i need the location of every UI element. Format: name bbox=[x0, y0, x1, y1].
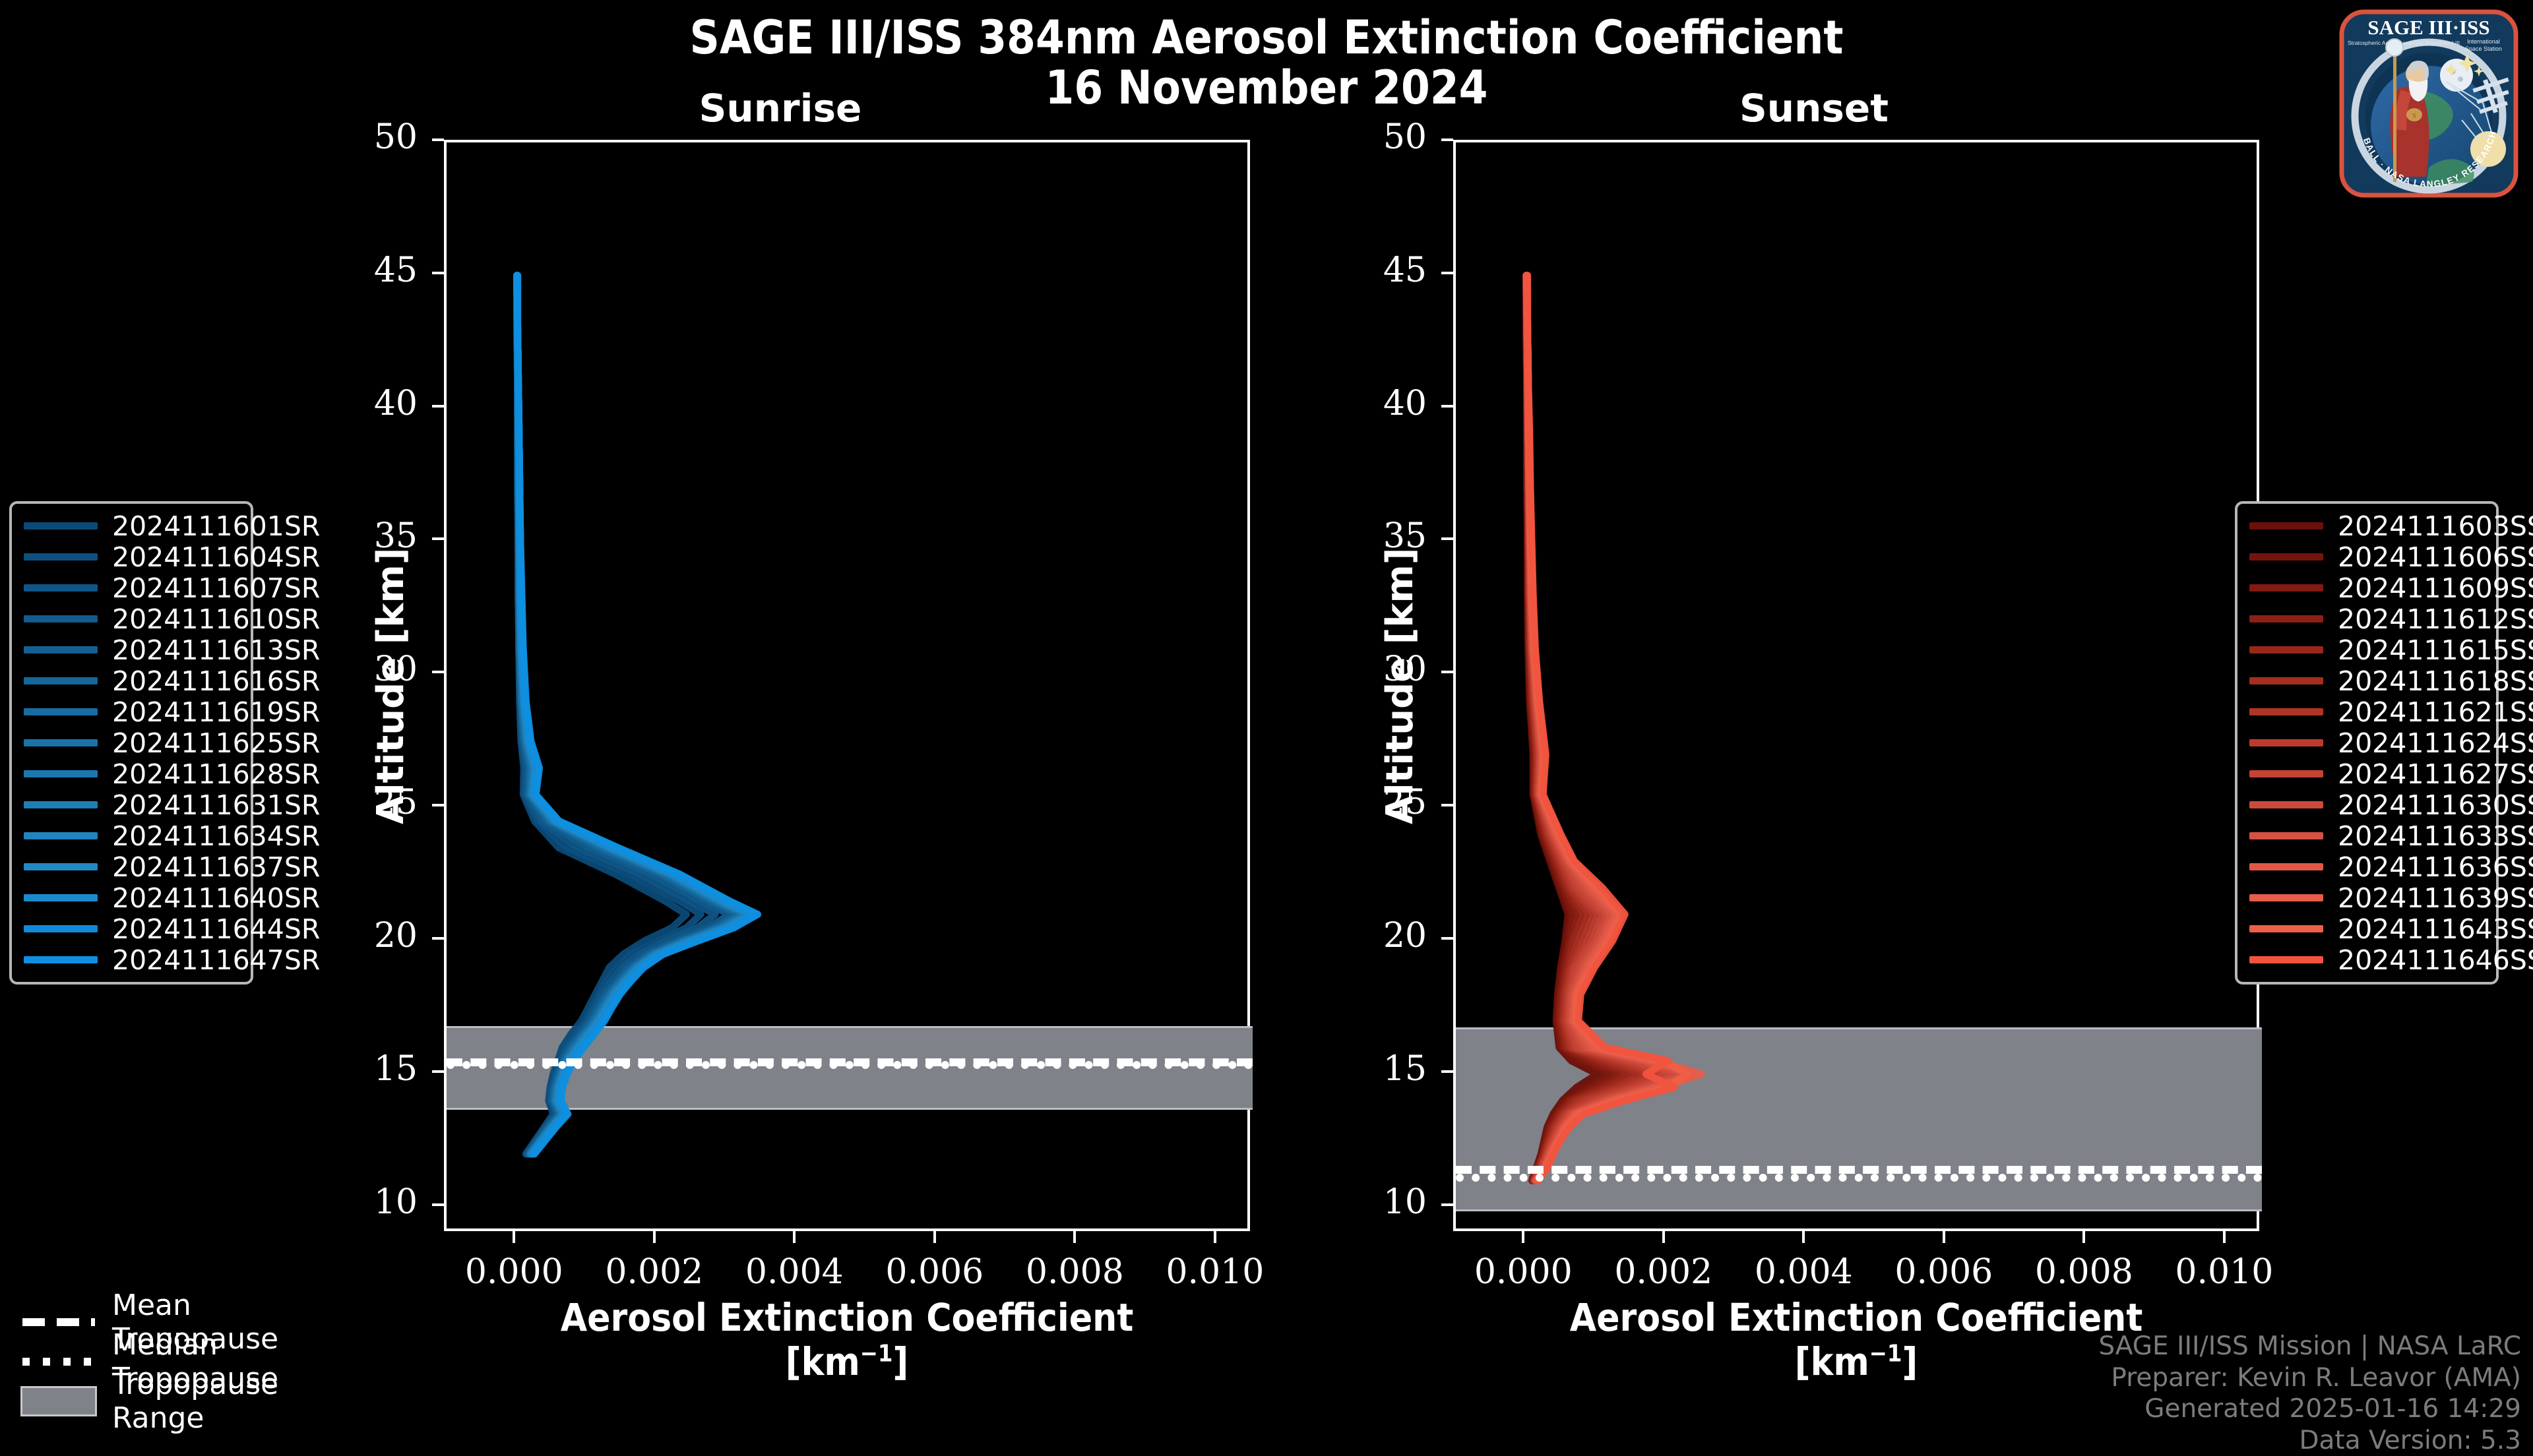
y-axis-tick bbox=[1441, 1203, 1453, 1206]
legend-item-label: 2024111604SR bbox=[112, 541, 320, 573]
y-axis-tick bbox=[432, 1070, 444, 1073]
legend-item[interactable]: 2024111613SR bbox=[24, 634, 239, 665]
legend-item-label: 2024111640SR bbox=[112, 882, 320, 914]
y-axis-tick-label: 45 bbox=[1334, 251, 1427, 290]
y-axis-tick bbox=[432, 937, 444, 940]
legend-item[interactable]: 2024111606SS bbox=[2249, 541, 2484, 572]
legend-color-swatch bbox=[24, 956, 98, 963]
credits-mission: SAGE III/ISS Mission | NASA LaRC bbox=[2098, 1331, 2521, 1362]
legend-item-label: 2024111631SR bbox=[112, 789, 320, 821]
profile-line bbox=[517, 276, 753, 1154]
sage-mission-patch-logo: S SAGE III·ISS Stratospheric Aerosol and… bbox=[2330, 3, 2528, 200]
median-tropopause-line bbox=[1456, 1174, 2262, 1182]
legend-item-label: 2024111628SR bbox=[112, 758, 320, 790]
mean-tropopause-line bbox=[1456, 1166, 2262, 1174]
profile-line bbox=[517, 276, 741, 1154]
legend-color-swatch bbox=[2249, 863, 2323, 870]
legend-color-swatch bbox=[24, 553, 98, 561]
legend-item-label: 2024111639SS bbox=[2338, 882, 2533, 914]
legend-item-label: 2024111619SR bbox=[112, 696, 320, 728]
legend-color-swatch bbox=[24, 739, 98, 746]
legend-color-swatch bbox=[2249, 894, 2323, 901]
x-axis-tick-label: 0.000 bbox=[441, 1252, 586, 1292]
mean-tropopause-swatch bbox=[20, 1317, 98, 1327]
legend-color-swatch bbox=[2249, 801, 2323, 808]
y-axis-tick bbox=[432, 138, 444, 141]
y-axis-tick bbox=[1441, 804, 1453, 806]
credits-preparer: Preparer: Kevin R. Leavor (AMA) bbox=[2098, 1362, 2521, 1394]
y-axis-tick bbox=[432, 405, 444, 408]
legend-color-swatch bbox=[24, 770, 98, 777]
legend-item[interactable]: 2024111628SR bbox=[24, 758, 239, 789]
y-axis-tick-label: 10 bbox=[1334, 1182, 1427, 1222]
legend-item-label: 2024111644SR bbox=[112, 913, 320, 945]
right-panel-label: Sunset bbox=[1715, 86, 1913, 131]
left-x-axis-units: [km−1] bbox=[786, 1339, 908, 1384]
legend-item[interactable]: 2024111644SR bbox=[24, 913, 239, 944]
legend-color-swatch bbox=[2249, 646, 2323, 653]
legend-item-label: 2024111627SS bbox=[2338, 758, 2533, 790]
svg-text:S: S bbox=[2412, 112, 2416, 120]
legend-item[interactable]: 2024111609SS bbox=[2249, 572, 2484, 603]
profile-line bbox=[517, 276, 745, 1154]
legend-item[interactable]: 2024111643SS bbox=[2249, 913, 2484, 944]
legend-item[interactable]: 2024111646SS bbox=[2249, 944, 2484, 975]
profile-line bbox=[518, 276, 756, 1154]
x-axis-tick-label: 0.002 bbox=[1591, 1252, 1736, 1292]
legend-item[interactable]: 2024111615SS bbox=[2249, 634, 2484, 665]
profile-line bbox=[1527, 276, 1701, 1181]
legend-item-label: 2024111618SS bbox=[2338, 665, 2533, 697]
y-axis-tick-label: 25 bbox=[325, 783, 418, 822]
tropopause-legend: Mean Tropopause Median Tropopause Tropop… bbox=[20, 1302, 363, 1421]
y-axis-tick bbox=[1441, 1070, 1453, 1073]
legend-item-label: 2024111607SR bbox=[112, 572, 320, 604]
x-axis-tick-label: 0.008 bbox=[1002, 1252, 1147, 1292]
x-axis-tick-label: 0.006 bbox=[862, 1252, 1007, 1292]
legend-item-label: 2024111610SR bbox=[112, 603, 320, 635]
legend-color-swatch bbox=[2249, 925, 2323, 932]
legend-item-label: 2024111625SR bbox=[112, 727, 320, 759]
legend-item[interactable]: 2024111604SR bbox=[24, 541, 239, 572]
y-axis-tick-label: 35 bbox=[1334, 516, 1427, 556]
x-axis-tick-label: 0.006 bbox=[1871, 1252, 2017, 1292]
x-axis-tick-label: 0.010 bbox=[2152, 1252, 2297, 1292]
legend-color-swatch bbox=[2249, 770, 2323, 777]
x-axis-tick bbox=[1073, 1231, 1076, 1243]
legend-item-label: 2024111647SR bbox=[112, 944, 320, 976]
x-axis-tick-label: 0.008 bbox=[2011, 1252, 2156, 1292]
legend-color-swatch bbox=[2249, 553, 2323, 561]
profile-line bbox=[1527, 276, 1695, 1181]
sunset-series-legend[interactable]: 2024111603SS2024111606SS2024111609SS2024… bbox=[2235, 501, 2499, 985]
profile-line bbox=[517, 276, 747, 1154]
sunrise-series-legend[interactable]: 2024111601SR2024111604SR2024111607SR2024… bbox=[9, 501, 253, 985]
right-x-axis-label-text: Aerosol Extinction Coefficient bbox=[1570, 1295, 2143, 1340]
x-axis-tick-label: 0.002 bbox=[582, 1252, 727, 1292]
title-line-2: 16 November 2024 bbox=[0, 63, 2533, 113]
y-axis-tick bbox=[432, 537, 444, 540]
legend-item[interactable]: 2024111630SS bbox=[2249, 789, 2484, 820]
legend-color-swatch bbox=[24, 615, 98, 622]
legend-item[interactable]: 2024111631SR bbox=[24, 789, 239, 820]
x-axis-tick bbox=[793, 1231, 796, 1243]
x-axis-tick bbox=[1662, 1231, 1665, 1243]
profile-line bbox=[517, 276, 751, 1154]
legend-item[interactable]: 2024111624SS bbox=[2249, 727, 2484, 758]
legend-item[interactable]: 2024111612SS bbox=[2249, 603, 2484, 634]
y-axis-tick bbox=[432, 804, 444, 806]
legend-color-swatch bbox=[2249, 677, 2323, 684]
legend-color-swatch bbox=[24, 646, 98, 653]
legend-item-label: 2024111624SS bbox=[2338, 727, 2533, 759]
y-axis-tick bbox=[1441, 937, 1453, 940]
credits-data-version: Data Version: 5.3 bbox=[2098, 1425, 2521, 1456]
right-x-axis-units: [km−1] bbox=[1795, 1339, 1918, 1384]
legend-color-swatch bbox=[24, 801, 98, 808]
left-x-axis-label: Aerosol Extinction Coefficient [km−1] bbox=[444, 1296, 1250, 1383]
title-line-1: SAGE III/ISS 384nm Aerosol Extinction Co… bbox=[690, 11, 1844, 65]
legend-color-swatch bbox=[24, 832, 98, 839]
legend-item-label: 2024111616SR bbox=[112, 665, 320, 697]
legend-color-swatch bbox=[24, 708, 98, 715]
y-axis-tick bbox=[432, 272, 444, 274]
legend-item-label: 2024111601SR bbox=[112, 510, 320, 542]
x-axis-tick-label: 0.000 bbox=[1451, 1252, 1596, 1292]
y-axis-tick-label: 40 bbox=[1334, 384, 1427, 423]
legend-item[interactable]: 2024111619SR bbox=[24, 696, 239, 727]
profile-line bbox=[517, 276, 749, 1154]
legend-item-label: 2024111636SS bbox=[2338, 851, 2533, 883]
y-axis-tick-label: 40 bbox=[325, 384, 418, 423]
legend-color-swatch bbox=[2249, 956, 2323, 963]
svg-text:International: International bbox=[2467, 38, 2500, 45]
median-tropopause-swatch bbox=[20, 1356, 98, 1367]
legend-item[interactable]: 2024111610SR bbox=[24, 603, 239, 634]
legend-item[interactable]: 2024111634SR bbox=[24, 820, 239, 851]
legend-item[interactable]: 2024111621SS bbox=[2249, 696, 2484, 727]
profile-curves bbox=[1456, 142, 2262, 1234]
x-axis-tick bbox=[1802, 1231, 1805, 1243]
y-axis-tick-label: 50 bbox=[325, 117, 418, 157]
legend-color-swatch bbox=[2249, 615, 2323, 622]
x-axis-tick-label: 0.004 bbox=[1731, 1252, 1876, 1292]
y-axis-tick-label: 30 bbox=[1334, 650, 1427, 689]
legend-item[interactable]: 2024111616SR bbox=[24, 665, 239, 696]
legend-item-label: 2024111643SS bbox=[2338, 913, 2533, 945]
legend-item-label: 2024111637SR bbox=[112, 851, 320, 883]
y-axis-tick bbox=[432, 671, 444, 673]
tropopause-range-label: Tropopause Range bbox=[112, 1368, 363, 1435]
legend-color-swatch bbox=[2249, 584, 2323, 591]
x-axis-tick-label: 0.004 bbox=[722, 1252, 867, 1292]
legend-item-label: 2024111606SS bbox=[2338, 541, 2533, 573]
page-title: SAGE III/ISS 384nm Aerosol Extinction Co… bbox=[0, 13, 2533, 113]
left-panel-label: Sunrise bbox=[681, 86, 879, 131]
svg-text:SAGE III·ISS: SAGE III·ISS bbox=[2367, 16, 2489, 39]
legend-row-tropopause-range: Tropopause Range bbox=[20, 1381, 363, 1421]
legend-item-label: 2024111621SS bbox=[2338, 696, 2533, 728]
legend-item[interactable]: 2024111618SS bbox=[2249, 665, 2484, 696]
x-axis-tick bbox=[1943, 1231, 1945, 1243]
legend-item-label: 2024111609SS bbox=[2338, 572, 2533, 604]
x-axis-tick bbox=[933, 1231, 936, 1243]
legend-item[interactable]: 2024111603SS bbox=[2249, 510, 2484, 541]
legend-item-label: 2024111634SR bbox=[112, 820, 320, 852]
legend-item[interactable]: 2024111637SR bbox=[24, 851, 239, 882]
legend-item[interactable]: 2024111607SR bbox=[24, 572, 239, 603]
legend-color-swatch bbox=[24, 863, 98, 870]
y-axis-tick bbox=[1441, 405, 1453, 408]
legend-item[interactable]: 2024111647SR bbox=[24, 944, 239, 975]
y-axis-tick bbox=[1441, 272, 1453, 274]
legend-color-swatch bbox=[24, 677, 98, 684]
legend-color-swatch bbox=[24, 925, 98, 932]
legend-item-label: 2024111630SS bbox=[2338, 789, 2533, 821]
y-axis-tick-label: 25 bbox=[1334, 783, 1427, 822]
legend-item-label: 2024111613SR bbox=[112, 634, 320, 666]
y-axis-tick-label: 10 bbox=[325, 1182, 418, 1222]
legend-color-swatch bbox=[2249, 739, 2323, 746]
legend-color-swatch bbox=[24, 894, 98, 901]
legend-item[interactable]: 2024111625SR bbox=[24, 727, 239, 758]
legend-color-swatch bbox=[2249, 832, 2323, 839]
y-axis-tick bbox=[1441, 671, 1453, 673]
profile-line bbox=[517, 276, 716, 1154]
y-axis-tick-label: 20 bbox=[325, 916, 418, 956]
tropopause-range-swatch bbox=[20, 1386, 98, 1416]
legend-item-label: 2024111603SS bbox=[2338, 510, 2533, 542]
x-axis-tick bbox=[513, 1231, 515, 1243]
legend-item[interactable]: 2024111639SS bbox=[2249, 882, 2484, 913]
legend-color-swatch bbox=[24, 584, 98, 591]
y-axis-tick bbox=[1441, 138, 1453, 141]
sunrise-plot-area[interactable] bbox=[444, 140, 1250, 1231]
y-axis-tick-label: 50 bbox=[1334, 117, 1427, 157]
y-axis-tick-label: 15 bbox=[325, 1049, 418, 1089]
x-axis-tick-label: 0.010 bbox=[1142, 1252, 1288, 1292]
y-axis-tick bbox=[1441, 537, 1453, 540]
median-tropopause-line bbox=[447, 1061, 1253, 1069]
profile-curves bbox=[447, 142, 1253, 1234]
profile-line bbox=[517, 276, 730, 1154]
svg-text:Space Station: Space Station bbox=[2465, 45, 2502, 52]
x-axis-tick bbox=[2082, 1231, 2085, 1243]
x-axis-tick bbox=[1522, 1231, 1524, 1243]
legend-item-label: 2024111615SS bbox=[2338, 634, 2533, 666]
profile-line bbox=[1528, 276, 1675, 1181]
x-axis-tick bbox=[1214, 1231, 1216, 1243]
y-axis-tick-label: 15 bbox=[1334, 1049, 1427, 1089]
y-axis-tick-label: 35 bbox=[325, 516, 418, 556]
legend-item[interactable]: 2024111633SS bbox=[2249, 820, 2484, 851]
legend-item-label: 2024111633SS bbox=[2338, 820, 2533, 852]
x-axis-tick bbox=[653, 1231, 656, 1243]
legend-color-swatch bbox=[2249, 708, 2323, 715]
legend-item[interactable]: 2024111636SS bbox=[2249, 851, 2484, 882]
sunset-plot-area[interactable] bbox=[1453, 140, 2259, 1231]
y-axis-tick-label: 45 bbox=[325, 251, 418, 290]
credits-generated: Generated 2025-01-16 14:29 bbox=[2098, 1393, 2521, 1425]
profile-line bbox=[517, 276, 737, 1154]
y-axis-tick bbox=[432, 1203, 444, 1206]
credits-block: SAGE III/ISS Mission | NASA LaRC Prepare… bbox=[2098, 1331, 2521, 1456]
left-x-axis-label-text: Aerosol Extinction Coefficient bbox=[561, 1295, 1134, 1340]
svg-text:Stratospheric Aerosol and Gas: Stratospheric Aerosol and Gas Experiment… bbox=[2348, 40, 2460, 46]
y-axis-tick-label: 30 bbox=[325, 650, 418, 689]
legend-color-swatch bbox=[24, 522, 98, 530]
legend-item[interactable]: 2024111601SR bbox=[24, 510, 239, 541]
legend-item[interactable]: 2024111627SS bbox=[2249, 758, 2484, 789]
profile-line bbox=[517, 276, 701, 1154]
profile-line bbox=[517, 276, 755, 1154]
legend-item[interactable]: 2024111640SR bbox=[24, 882, 239, 913]
profile-line bbox=[517, 276, 743, 1154]
y-axis-tick-label: 20 bbox=[1334, 916, 1427, 956]
legend-item-label: 2024111646SS bbox=[2338, 944, 2533, 976]
legend-color-swatch bbox=[2249, 522, 2323, 530]
x-axis-tick bbox=[2223, 1231, 2226, 1243]
legend-item-label: 2024111612SS bbox=[2338, 603, 2533, 635]
profile-line bbox=[518, 276, 758, 1154]
